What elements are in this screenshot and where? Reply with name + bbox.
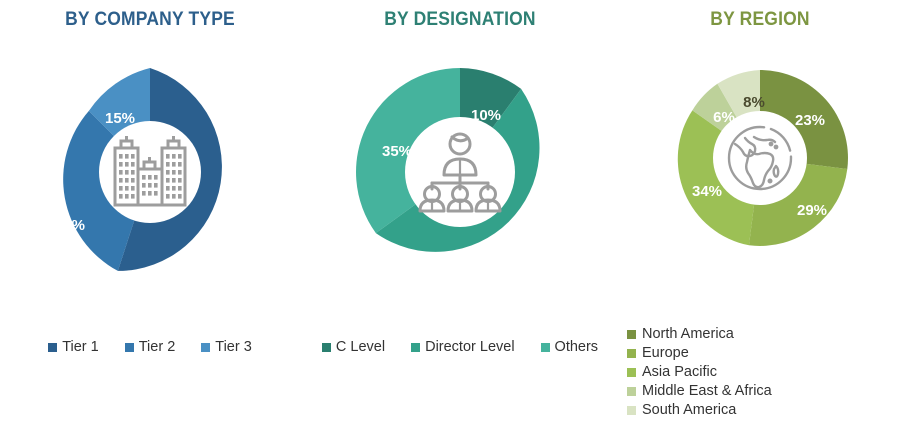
legend-swatch-others [541, 343, 550, 352]
panel-by-designation: BY DESIGNATION 10% 55% 35% [300, 0, 620, 435]
legend-item-north-america[interactable]: North America [627, 326, 772, 342]
legend-label-asia-pacific: Asia Pacific [642, 364, 717, 380]
page-title-region: BY REGION [631, 9, 889, 31]
slice-value-tier-3: 15% [105, 110, 135, 127]
panel-by-region: BY REGION 23% 29% 34% 6% 8% [620, 0, 900, 435]
legend-label-europe: Europe [642, 345, 689, 361]
legend-swatch-tier-2 [125, 343, 134, 352]
legend-item-tier-1[interactable]: Tier 1 [48, 339, 99, 355]
legend-item-europe[interactable]: Europe [627, 345, 772, 361]
legend-designation: C Level Director Level Others [300, 339, 620, 355]
slice-value-director-level: 55% [517, 234, 547, 251]
legend-label-tier-2: Tier 2 [139, 339, 176, 355]
buildings-icon [107, 131, 193, 213]
slice-value-c-level: 10% [471, 107, 501, 124]
title-wrap-designation: BY DESIGNATION [300, 9, 620, 31]
donut-chart-company-type: 55% 30% 15% [44, 66, 256, 278]
legend-item-others[interactable]: Others [541, 339, 599, 355]
infographic-board: BY COMPANY TYPE 55% 30% 15% [0, 0, 900, 435]
donut-chart-region: 23% 29% 34% 6% 8% [670, 68, 850, 248]
legend-label-middle-east-africa: Middle East & Africa [642, 383, 772, 399]
legend-swatch-director-level [411, 343, 420, 352]
slice-value-north-america: 23% [795, 112, 825, 129]
legend-label-director-level: Director Level [425, 339, 514, 355]
title-wrap-company: BY COMPANY TYPE [0, 9, 300, 31]
legend-label-tier-1: Tier 1 [62, 339, 99, 355]
legend-label-others: Others [555, 339, 599, 355]
org-chart-icon [416, 131, 504, 213]
legend-swatch-tier-3 [201, 343, 210, 352]
legend-label-north-america: North America [642, 326, 734, 342]
legend-swatch-south-america [627, 406, 636, 415]
legend-label-tier-3: Tier 3 [215, 339, 252, 355]
slice-value-asia-pacific: 34% [692, 183, 722, 200]
legend-item-asia-pacific[interactable]: Asia Pacific [627, 364, 772, 380]
legend-item-south-america[interactable]: South America [627, 402, 772, 418]
legend-swatch-north-america [627, 330, 636, 339]
legend-item-tier-3[interactable]: Tier 3 [201, 339, 252, 355]
legend-company-type: Tier 1 Tier 2 Tier 3 [0, 339, 300, 355]
slice-value-others: 35% [382, 143, 412, 160]
donut-chart-designation: 10% 55% 35% [354, 66, 566, 278]
legend-item-tier-2[interactable]: Tier 2 [125, 339, 176, 355]
legend-swatch-middle-east-africa [627, 387, 636, 396]
slice-value-tier-2: 30% [55, 217, 85, 234]
legend-swatch-c-level [322, 343, 331, 352]
globe-icon [724, 122, 796, 194]
slice-value-europe: 29% [797, 202, 827, 219]
legend-item-c-level[interactable]: C Level [322, 339, 385, 355]
legend-label-south-america: South America [642, 402, 736, 418]
page-title-company-type: BY COMPANY TYPE [12, 9, 288, 31]
legend-swatch-tier-1 [48, 343, 57, 352]
legend-label-c-level: C Level [336, 339, 385, 355]
legend-swatch-asia-pacific [627, 368, 636, 377]
slice-value-tier-1: 55% [212, 208, 242, 225]
legend-item-middle-east-africa[interactable]: Middle East & Africa [627, 383, 772, 399]
panel-by-company-type: BY COMPANY TYPE 55% 30% 15% [0, 0, 300, 435]
title-wrap-region: BY REGION [620, 9, 900, 31]
legend-item-director-level[interactable]: Director Level [411, 339, 514, 355]
slice-value-south-america: 8% [743, 94, 765, 111]
legend-swatch-europe [627, 349, 636, 358]
page-title-designation: BY DESIGNATION [313, 9, 607, 31]
legend-region: North America Europe Asia Pacific Middle… [627, 326, 772, 418]
